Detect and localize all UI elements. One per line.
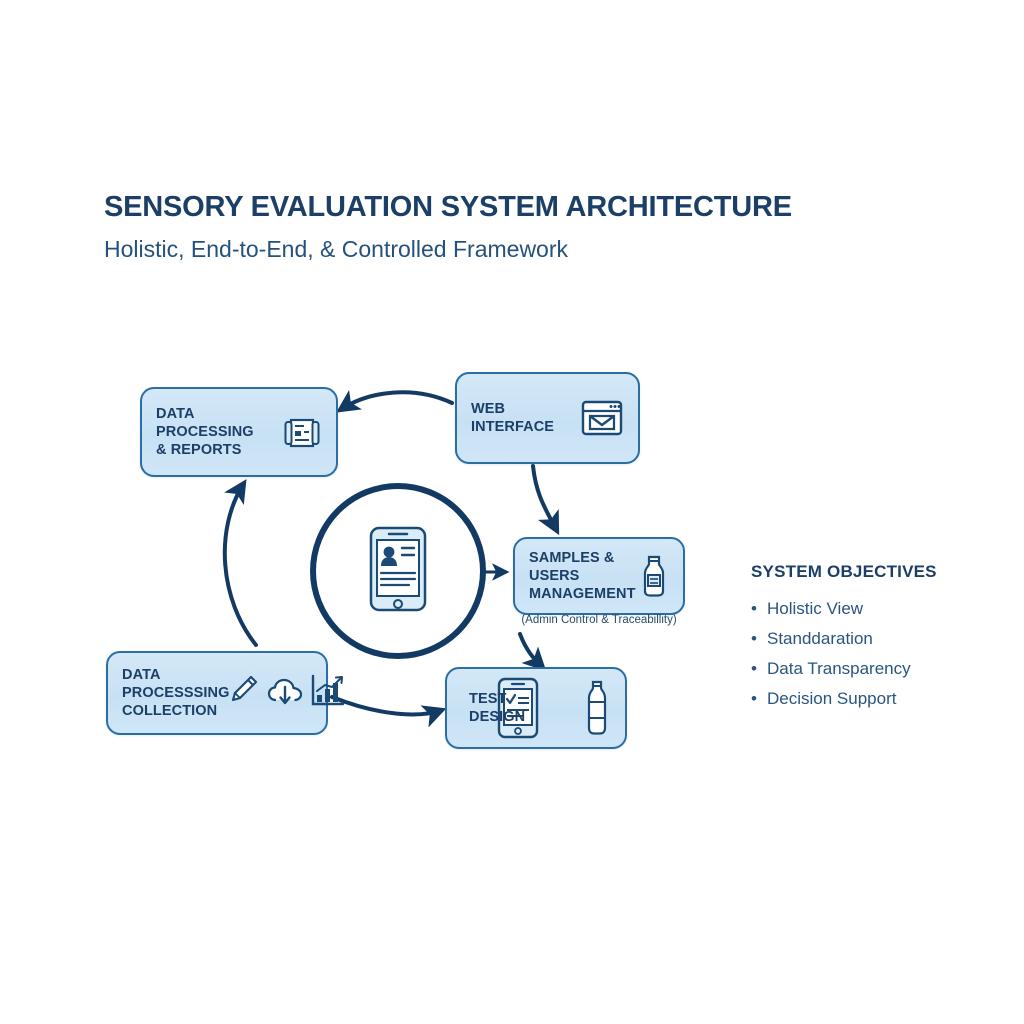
objective-label: Holistic View	[767, 598, 863, 620]
objective-item: • Decision Support	[751, 688, 981, 710]
blueprint-document-icon	[282, 412, 322, 452]
bullet-icon: •	[751, 658, 767, 680]
center-hub	[310, 483, 486, 659]
objective-item: • Holistic View	[751, 598, 981, 620]
bullet-icon: •	[751, 628, 767, 650]
node-caption-samples: (Admin Control & Traceabillity)	[513, 614, 685, 626]
page-subtitle: Holistic, End-to-End, & Controlled Frame…	[104, 236, 904, 262]
node-icon-group	[229, 674, 345, 712]
objective-label: Decision Support	[767, 688, 896, 710]
objective-item: • Standdaration	[751, 628, 981, 650]
browser-envelope-icon	[580, 398, 624, 438]
node-icon-group	[639, 554, 669, 598]
smartphone-user-profile-icon	[369, 526, 427, 617]
node-test-design[interactable]: TEST DESIGN	[445, 667, 627, 749]
node-label: TEST DESIGN	[469, 690, 545, 726]
node-label: DATA PROCESSING & REPORTS	[156, 405, 282, 459]
node-label: SAMPLES & USERS MANAGEMENT	[529, 549, 639, 603]
water-bottle-icon	[583, 680, 611, 736]
node-data-collection[interactable]: DATA PROCESSSING COLLECTION	[106, 651, 328, 735]
objective-label: Standdaration	[767, 628, 873, 650]
pencil-icon	[229, 674, 259, 704]
arrow-collection-to-testdesign	[332, 697, 442, 714]
diagram-canvas: SENSORY EVALUATION SYSTEM ARCHITECTURE H…	[0, 0, 1024, 1024]
bar-chart-growth-icon	[311, 674, 345, 706]
node-samples-users-management[interactable]: SAMPLES & USERS MANAGEMENT	[513, 537, 685, 615]
node-label: WEB INTERFACE	[471, 400, 554, 436]
node-label: DATA PROCESSSING COLLECTION	[122, 666, 229, 720]
connector-arrows-layer	[0, 0, 1024, 1024]
node-icon-group	[580, 398, 624, 438]
node-data-processing-reports[interactable]: DATA PROCESSING & REPORTS	[140, 387, 338, 477]
page-title: SENSORY EVALUATION SYSTEM ARCHITECTURE	[104, 192, 904, 224]
node-web-interface[interactable]: WEB INTERFACE	[455, 372, 640, 464]
objective-label: Data Transparency	[767, 658, 911, 680]
arrow-web-to-reports	[340, 392, 452, 410]
cloud-download-icon	[267, 678, 303, 706]
sample-bottle-label-icon	[639, 554, 669, 598]
arrow-collection-to-reports	[225, 483, 256, 645]
arrow-samples-to-testdesign	[520, 634, 543, 668]
system-objectives-panel: SYSTEM OBJECTIVES • Holistic View • Stan…	[751, 562, 981, 718]
node-icon-group	[282, 412, 322, 452]
bullet-icon: •	[751, 688, 767, 710]
objective-item: • Data Transparency	[751, 658, 981, 680]
objectives-title: SYSTEM OBJECTIVES	[751, 562, 981, 582]
bullet-icon: •	[751, 598, 767, 620]
arrow-web-to-samples	[533, 466, 557, 531]
header: SENSORY EVALUATION SYSTEM ARCHITECTURE H…	[104, 192, 904, 262]
